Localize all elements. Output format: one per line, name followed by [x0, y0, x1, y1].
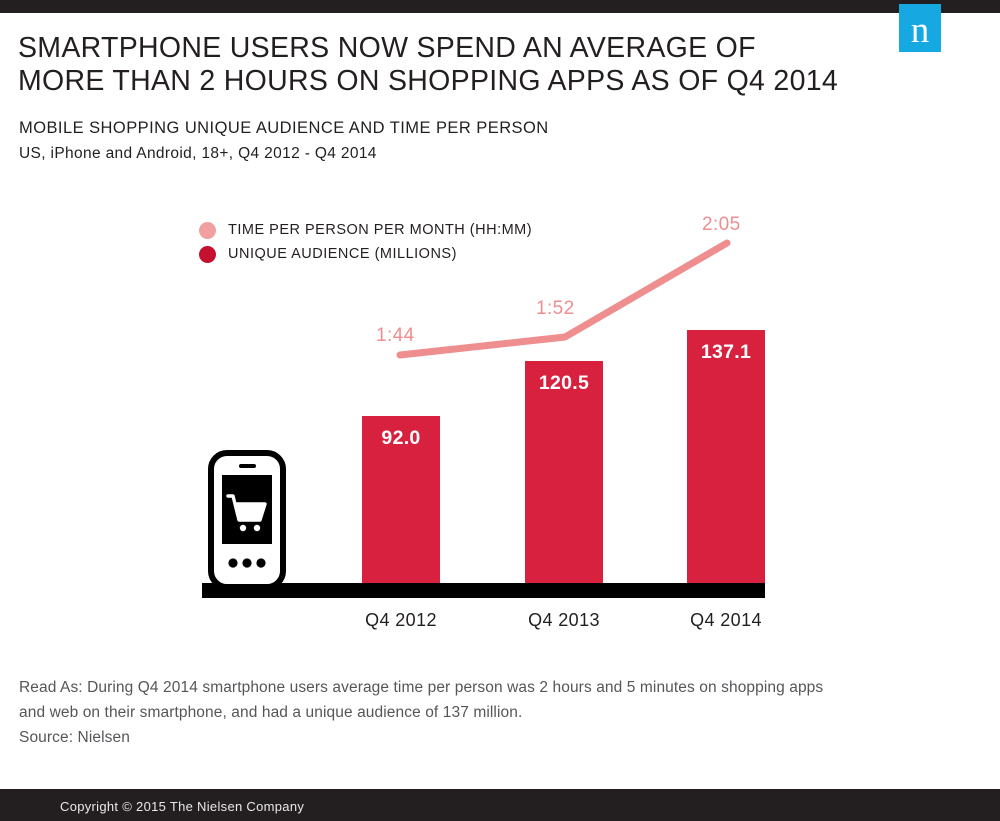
legend-label-time-per-person: TIME PER PERSON PER MONTH (HH:MM): [228, 222, 532, 238]
phone-earpiece-icon: [239, 464, 256, 468]
copyright-text: Copyright © 2015 The Nielsen Company: [60, 799, 304, 814]
phone-button-left-icon: [228, 558, 237, 567]
bar-q4-2012: [362, 416, 440, 583]
source-line: Source: Nielsen: [19, 725, 949, 750]
category-label-q4-2013: Q4 2013: [494, 610, 634, 631]
bar-value-q4-2014: 137.1: [687, 341, 765, 364]
page-title: SMARTPHONE USERS NOW SPEND AN AVERAGE OF…: [18, 32, 948, 98]
read-as-line-1: Read As: During Q4 2014 smartphone users…: [19, 675, 949, 700]
bar-value-q4-2012: 92.0: [362, 427, 440, 450]
chart-baseline-axis: [202, 583, 765, 598]
infographic-page: n SMARTPHONE USERS NOW SPEND AN AVERAGE …: [0, 0, 1000, 821]
phone-button-right-icon: [256, 558, 265, 567]
chart-subtitle: MOBILE SHOPPING UNIQUE AUDIENCE AND TIME…: [19, 119, 549, 138]
time-per-person-line-series: [0, 0, 1000, 660]
chart-plot-area: 92.0 120.5 137.1 1:44 1:52 2:05 Q4 2012 …: [0, 0, 1000, 660]
category-label-q4-2012: Q4 2012: [331, 610, 471, 631]
bar-value-q4-2013: 120.5: [525, 372, 603, 395]
line-value-q4-2013: 1:52: [536, 298, 575, 320]
legend-item-unique-audience: UNIQUE AUDIENCE (MILLIONS): [199, 242, 532, 266]
chart-scope-note: US, iPhone and Android, 18+, Q4 2012 - Q…: [19, 145, 377, 163]
legend-swatch-unique-audience-icon: [199, 246, 216, 263]
line-value-q4-2012: 1:44: [376, 325, 415, 347]
legend-item-time-per-person: TIME PER PERSON PER MONTH (HH:MM): [199, 218, 532, 242]
smartphone-shopping-cart-icon: [208, 450, 286, 590]
bar-q4-2013: [525, 361, 603, 583]
chart-legend: TIME PER PERSON PER MONTH (HH:MM) UNIQUE…: [199, 218, 532, 266]
top-accent-bar: [0, 0, 1000, 13]
read-as-line-2: and web on their smartphone, and had a u…: [19, 700, 949, 725]
phone-button-center-icon: [242, 558, 251, 567]
category-label-q4-2014: Q4 2014: [656, 610, 796, 631]
headline-line-2: MORE THAN 2 HOURS ON SHOPPING APPS AS OF…: [18, 65, 948, 98]
headline-line-1: SMARTPHONE USERS NOW SPEND AN AVERAGE OF: [18, 32, 948, 65]
read-as-note: Read As: During Q4 2014 smartphone users…: [19, 675, 949, 750]
line-value-q4-2014: 2:05: [702, 214, 741, 236]
bar-q4-2014: [687, 330, 765, 583]
legend-label-unique-audience: UNIQUE AUDIENCE (MILLIONS): [228, 246, 457, 262]
legend-swatch-time-per-person-icon: [199, 222, 216, 239]
